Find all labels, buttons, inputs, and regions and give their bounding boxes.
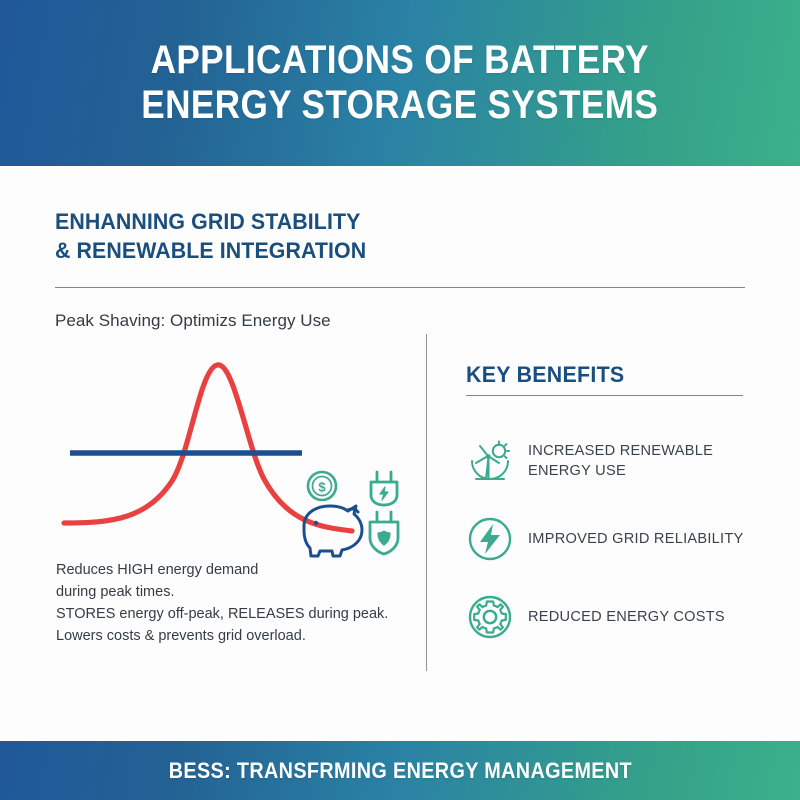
list-item-label: IMPROVED GRID RELIABILITY [528, 529, 743, 549]
dollar-coin-icon: $ [308, 472, 336, 500]
list-item: IMPROVED GRID RELIABILITY [462, 500, 762, 578]
footer-banner: BESS: TRANSFRMING ENERGY MANAGEMENT [0, 741, 800, 800]
infographic-poster: APPLICATIONS OF BATTERY ENERGY STORAGE S… [0, 0, 800, 800]
benefits-heading: KEY BENEFITS [466, 362, 624, 388]
chart-subheading: Peak Shaving: Optimizs Energy Use [55, 311, 331, 331]
list-item-label: REDUCED ENERGY COSTS [528, 607, 725, 627]
content-area: ENHANNING GRID STABILITY & RENEWABLE INT… [0, 166, 800, 741]
page-title: APPLICATIONS OF BATTERY ENERGY STORAGE S… [142, 38, 659, 128]
list-item: INCREASED RENEWABLE ENERGY USE [462, 422, 762, 500]
benefits-divider [466, 395, 743, 396]
savings-icon-cluster: $ [296, 468, 408, 558]
plug-bolt-icon [371, 472, 397, 505]
lightning-bolt-icon [462, 511, 518, 567]
list-item: REDUCED ENERGY COSTS [462, 578, 762, 656]
header-banner: APPLICATIONS OF BATTERY ENERGY STORAGE S… [0, 0, 800, 166]
chart-description: Reduces HIGH energy demand during peak t… [56, 559, 406, 647]
benefits-list: INCREASED RENEWABLE ENERGY USE IMPROVED … [462, 422, 762, 656]
section-divider [55, 287, 745, 288]
section-heading: ENHANNING GRID STABILITY & RENEWABLE INT… [55, 208, 366, 265]
footer-title: BESS: TRANSFRMING ENERGY MANAGEMENT [168, 758, 631, 784]
svg-text:$: $ [318, 480, 326, 495]
piggy-bank-icon [304, 506, 362, 556]
list-item-label: INCREASED RENEWABLE ENERGY USE [528, 441, 713, 482]
column-divider [426, 334, 427, 671]
plug-shield-icon [370, 512, 398, 554]
wind-turbine-sun-icon [462, 433, 518, 489]
gear-icon [462, 589, 518, 645]
icon-cluster-svg: $ [296, 468, 408, 558]
